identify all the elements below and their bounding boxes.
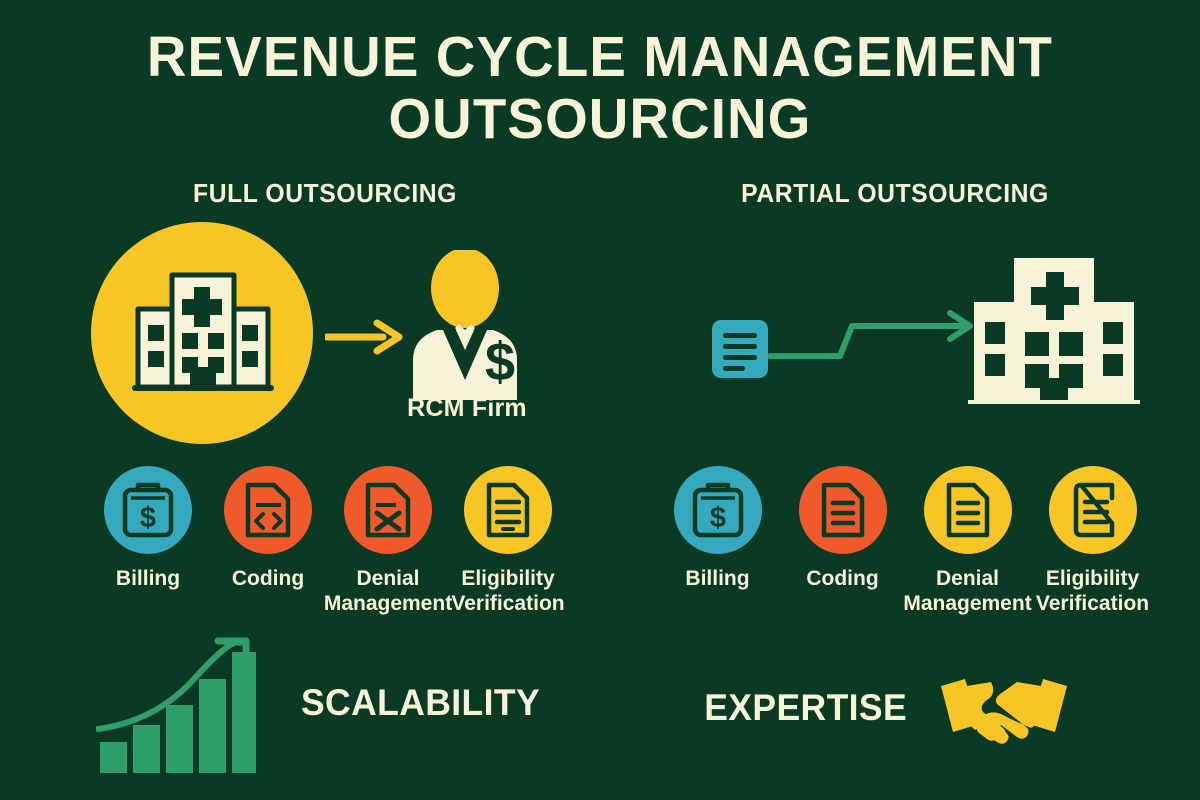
document-lines-icon	[943, 481, 993, 539]
column-header-partial-outsourcing: PARTIAL OUTSOURCING	[643, 178, 1147, 209]
page-title-line-2: OUTSOURCING	[24, 88, 1176, 150]
document-lines-icon	[483, 481, 533, 539]
service-badge-denial-management	[924, 466, 1012, 554]
infographic-canvas: REVENUE CYCLE MANAGEMENT OUTSOURCING FUL…	[0, 0, 1200, 800]
service-badge-eligibility-verification	[464, 466, 552, 554]
benefit-scalability: SCALABILITY	[96, 628, 566, 778]
rcm-firm-label: RCM Firm	[357, 394, 577, 423]
page-title-line-1: REVENUE CYCLE MANAGEMENT	[147, 25, 1053, 89]
partial-outsourcing-flow	[690, 250, 1180, 410]
document-lines-icon	[1068, 481, 1118, 539]
businessperson-dollar-icon: $	[385, 250, 545, 400]
svg-text:$: $	[485, 332, 515, 392]
document-icon	[710, 318, 770, 380]
service-badge-coding	[799, 466, 887, 554]
service-badge-billing: $	[104, 466, 192, 554]
service-label-eligibility-verification: Eligibility Verification	[1036, 566, 1149, 616]
service-badge-denial-management	[344, 466, 432, 554]
service-badge-coding	[224, 466, 312, 554]
service-item-coding[interactable]: Coding	[780, 466, 905, 591]
handshake-icon	[939, 668, 1069, 748]
service-badge-billing: $	[674, 466, 762, 554]
service-badge-eligibility-verification	[1049, 466, 1137, 554]
document-lines-icon	[818, 481, 868, 539]
hospital-icon	[132, 267, 274, 399]
full-outsourcing-services: $ Billing Coding	[88, 466, 568, 616]
stepped-arrow-right-icon	[768, 300, 988, 370]
service-label-eligibility-verification: Eligibility Verification	[451, 566, 564, 616]
document-x-icon	[363, 481, 413, 539]
service-label-denial-management: Denial Management	[324, 566, 452, 616]
benefit-label-expertise: EXPERTISE	[704, 687, 907, 729]
service-label-coding: Coding	[232, 566, 304, 591]
service-label-billing: Billing	[116, 566, 180, 591]
service-item-eligibility-verification[interactable]: Eligibility Verification	[1030, 466, 1155, 616]
service-label-denial-management: Denial Management	[903, 566, 1031, 616]
document-code-icon	[243, 481, 293, 539]
service-item-billing[interactable]: $ Billing	[655, 466, 780, 591]
service-item-denial-management[interactable]: Denial Management	[328, 466, 448, 616]
growth-chart-icon	[96, 633, 256, 773]
column-header-full-outsourcing: FULL OUTSOURCING	[73, 178, 577, 209]
svg-text:$: $	[140, 502, 156, 534]
svg-text:$: $	[709, 502, 725, 534]
service-item-billing[interactable]: $ Billing	[88, 466, 208, 591]
partial-outsourcing-services: $ Billing Coding	[655, 466, 1155, 616]
clipboard-dollar-icon: $	[691, 481, 745, 539]
service-label-billing: Billing	[685, 566, 749, 591]
benefit-expertise: EXPERTISE	[700, 658, 1120, 758]
service-item-coding[interactable]: Coding	[208, 466, 328, 591]
hospital-icon	[968, 250, 1140, 410]
page-title: REVENUE CYCLE MANAGEMENT OUTSOURCING	[24, 26, 1176, 150]
service-item-eligibility-verification[interactable]: Eligibility Verification	[448, 466, 568, 616]
service-label-coding: Coding	[806, 566, 878, 591]
clipboard-dollar-icon: $	[121, 481, 175, 539]
benefit-label-scalability: SCALABILITY	[301, 682, 540, 724]
service-item-denial-management[interactable]: Denial Management	[905, 466, 1030, 616]
full-outsourcing-flow: $ RCM Firm	[85, 222, 615, 437]
